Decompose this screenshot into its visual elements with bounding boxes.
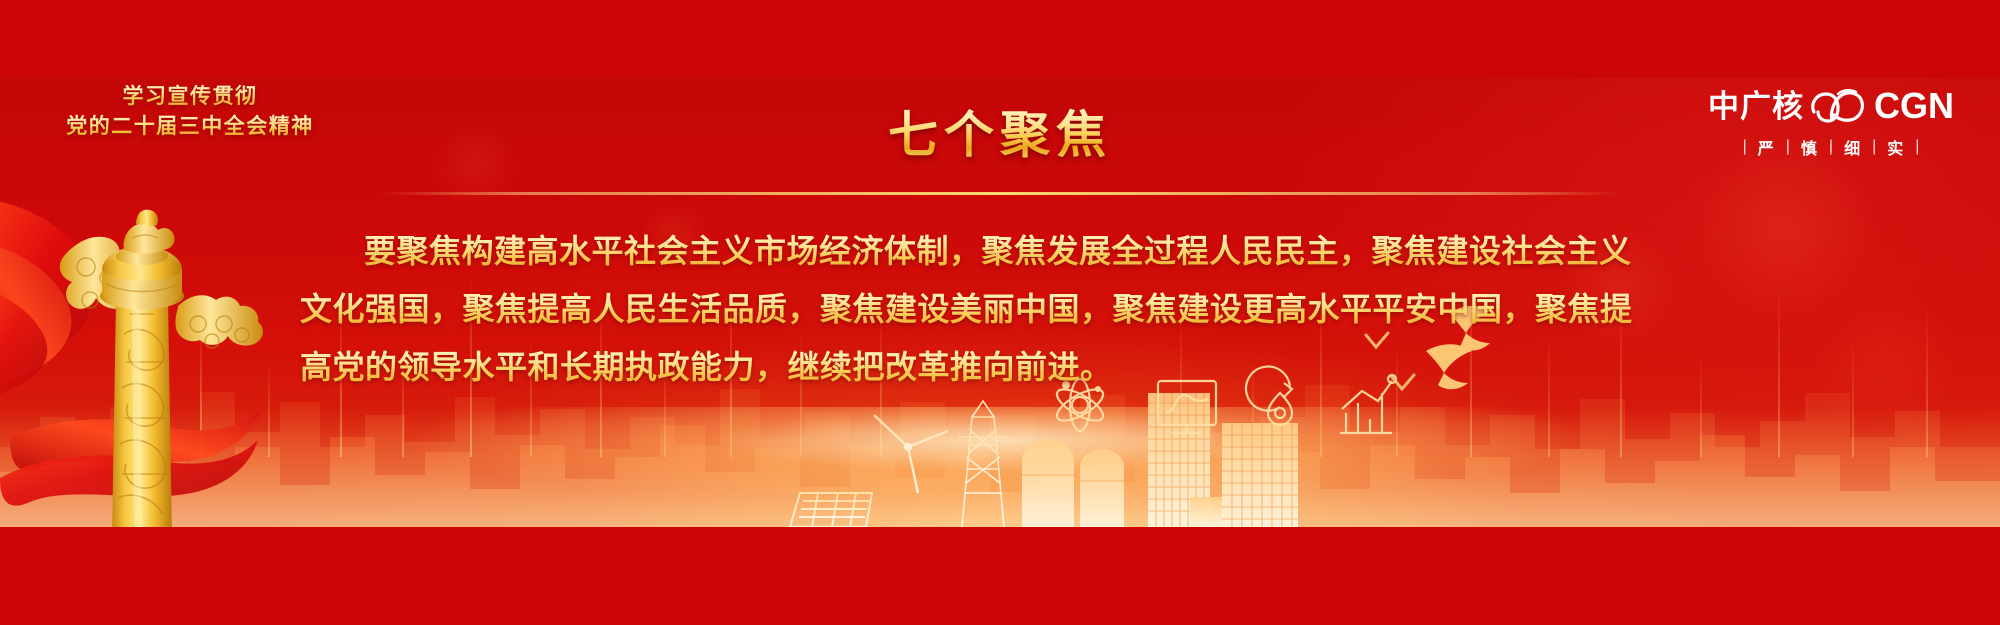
page-title: 七个聚焦 bbox=[888, 108, 1112, 163]
main-title-wrap: 七个聚焦 bbox=[0, 108, 2000, 163]
band-bottom bbox=[0, 527, 2000, 625]
band-top bbox=[0, 0, 2000, 78]
solar-panel bbox=[790, 493, 872, 527]
transmission-tower bbox=[958, 401, 1008, 527]
cloud-ornament-right bbox=[175, 295, 262, 348]
nuclear-containment bbox=[1022, 439, 1124, 527]
huabiao-beast bbox=[124, 210, 175, 254]
title-divider bbox=[0, 192, 2000, 195]
body-paragraph: 要聚焦构建高水平社会主义市场经济体制，聚焦发展全过程人民民主，聚焦建设社会主义 … bbox=[300, 222, 1720, 396]
huabiao-cap bbox=[100, 246, 184, 310]
huabiao-column bbox=[112, 300, 172, 527]
banner-root: 学习宣传贯彻 党的二十届三中全会精神 中广核 CGN | 严 | 慎 | 细 |… bbox=[0, 0, 2000, 625]
wind-turbine bbox=[874, 415, 948, 527]
huabiao-decoration bbox=[0, 138, 310, 527]
low-rise-block bbox=[1190, 497, 1222, 527]
body-line-2: 文化强国，聚焦提高人民生活品质，聚焦建设美丽中国，聚焦建设更高水平平安中国，聚焦… bbox=[300, 280, 1720, 338]
body-line-3: 高党的领导水平和长期执政能力，继续把改革推向前进。 bbox=[300, 338, 1720, 396]
body-line-1: 要聚焦构建高水平社会主义市场经济体制，聚焦发展全过程人民民主，聚焦建设社会主义 bbox=[300, 222, 1720, 280]
